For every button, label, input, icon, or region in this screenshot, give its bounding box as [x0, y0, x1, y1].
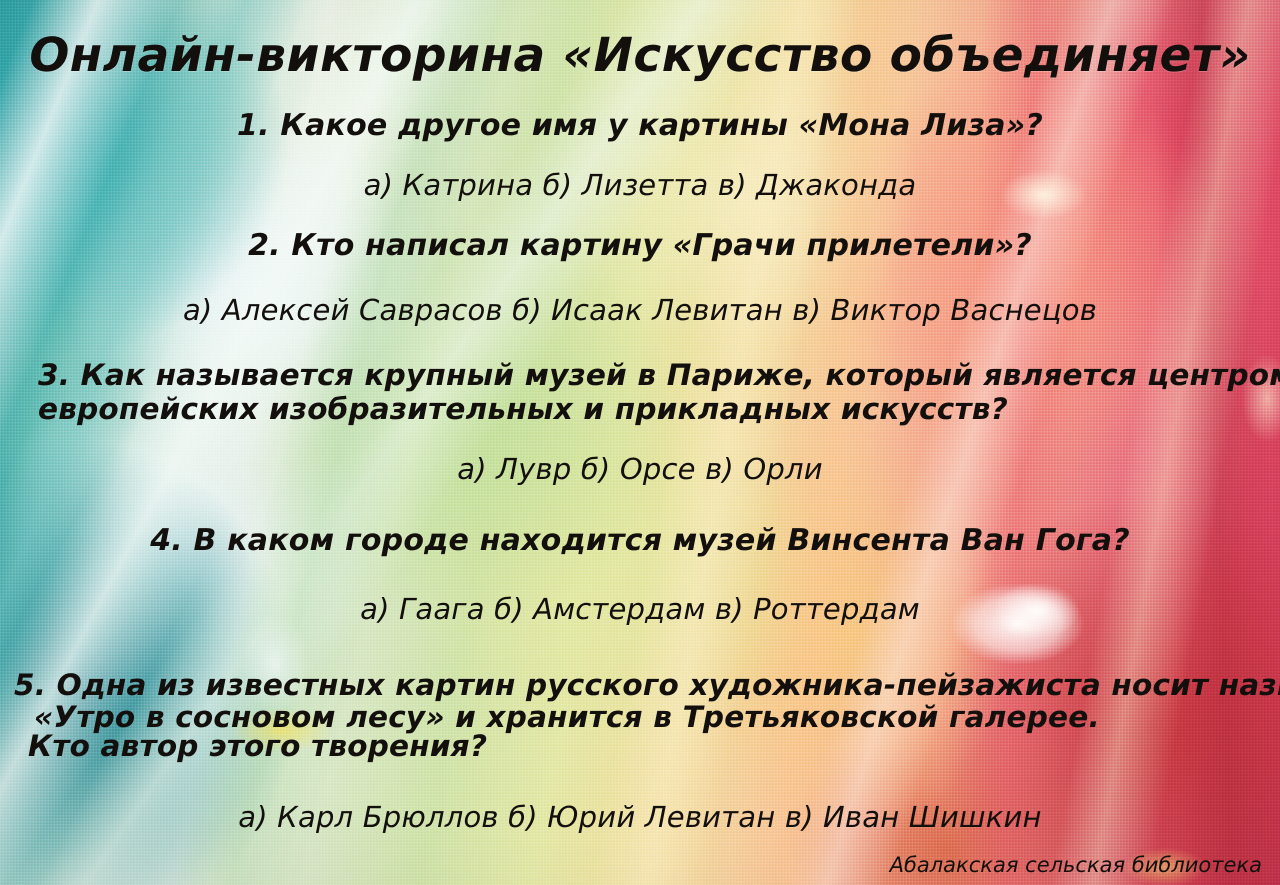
question-4-answers: а) Гаага б) Амстердам в) Роттердам — [0, 592, 1280, 626]
question-1-text: 1. Какое другое имя у картины «Мона Лиза… — [0, 108, 1280, 143]
question-2-answers: а) Алексей Саврасов б) Исаак Левитан в) … — [0, 293, 1280, 327]
question-5-answers: а) Карл Брюллов б) Юрий Левитан в) Иван … — [0, 800, 1280, 834]
poster-content: Онлайн-викторина «Искусство объединяет» … — [0, 0, 1280, 885]
question-4-text: 4. В каком городе находится музей Винсен… — [0, 523, 1280, 558]
question-2-text: 2. Кто написал картину «Грачи прилетели»… — [0, 228, 1280, 263]
page-title: Онлайн-викторина «Искусство объединяет» — [0, 28, 1280, 83]
question-3-text-line-1: 3. Как называется крупный музей в Париже… — [38, 358, 1280, 392]
question-3-answers: а) Лувр б) Орсе в) Орли — [0, 452, 1280, 486]
quiz-poster: Онлайн-викторина «Искусство объединяет» … — [0, 0, 1280, 885]
question-3-text-line-2: европейских изобразительных и прикладных… — [38, 392, 1008, 426]
library-credit: Абалакская сельская библиотека — [890, 853, 1262, 877]
question-5-text-line-1: 5. Одна из известных картин русского худ… — [14, 668, 1280, 702]
question-1-answers: а) Катрина б) Лизетта в) Джаконда — [0, 168, 1280, 202]
question-5-text-line-3: Кто автор этого творения? — [28, 729, 487, 763]
